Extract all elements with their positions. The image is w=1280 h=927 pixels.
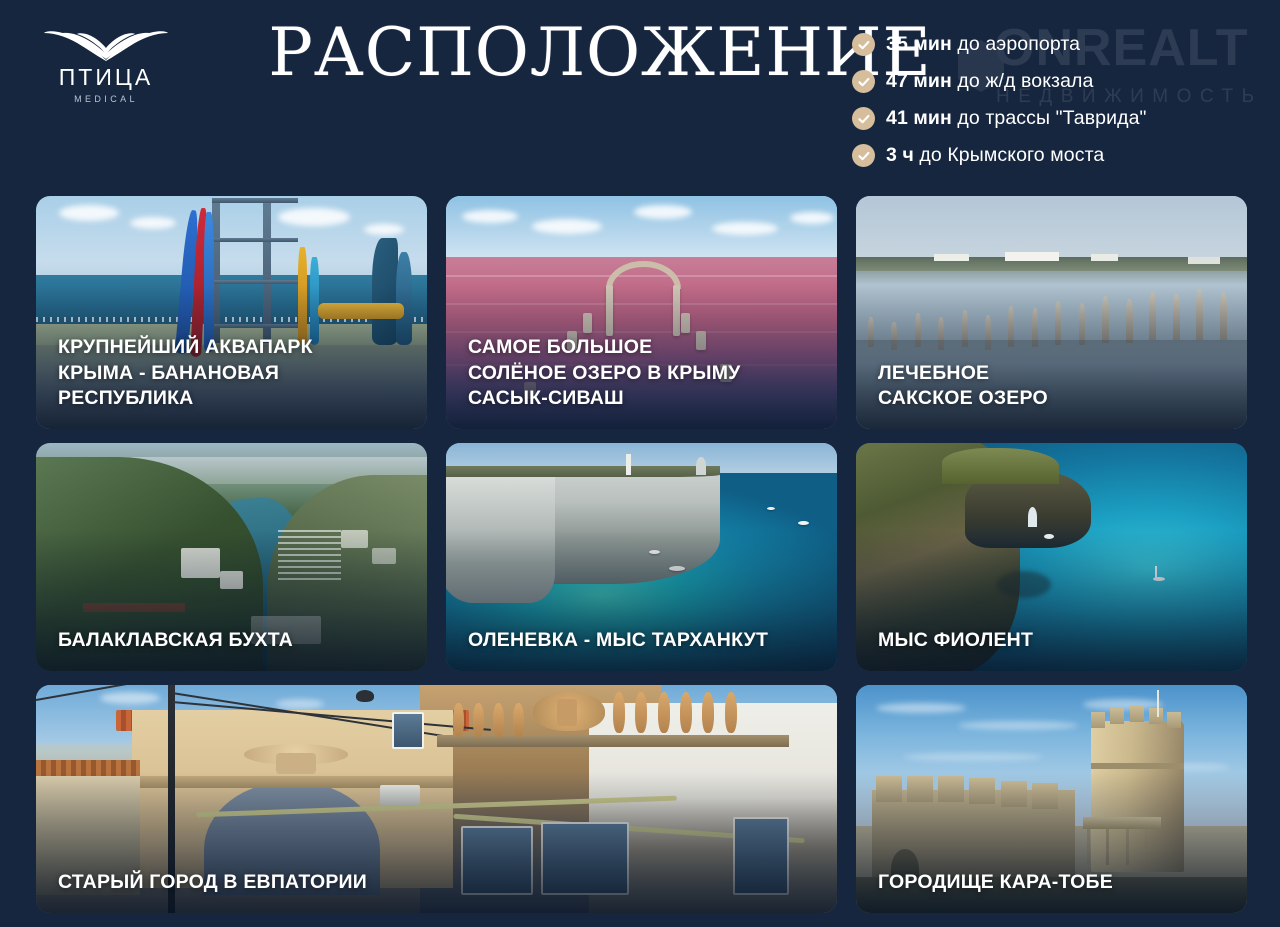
check-circle-icon (852, 33, 875, 56)
location-card-aquapark[interactable]: КРУПНЕЙШИЙ АКВАПАРК КРЫМА - БАНАНОВАЯ РЕ… (36, 196, 427, 429)
feature-value: 41 мин (886, 107, 952, 129)
check-circle-icon (852, 70, 875, 93)
location-card-sasyk[interactable]: САМОЕ БОЛЬШОЕ СОЛЁНОЕ ОЗЕРО В КРЫМУ САСЫ… (446, 196, 837, 429)
feature-desc: до трассы "Таврида" (952, 107, 1147, 129)
feature-label: 35 мин до аэропорта (886, 33, 1080, 56)
feature-desc: до ж/д вокзала (952, 70, 1094, 92)
location-card-evpatoria[interactable]: СТАРЫЙ ГОРОД В ЕВПАТОРИИ (36, 685, 837, 913)
card-caption: МЫС ФИОЛЕНТ (878, 628, 1233, 654)
grid-row: БАЛАКЛАВСКАЯ БУХТА ОЛЕНЕВКА - МЫС ТАРХАН… (36, 443, 1248, 671)
check-circle-icon (852, 107, 875, 130)
card-caption: БАЛАКЛАВСКАЯ БУХТА (58, 628, 413, 654)
location-card-saki[interactable]: ЛЕЧЕБНОЕ САКСКОЕ ОЗЕРО (856, 196, 1247, 429)
feature-item: 3 ч до Крымского моста (852, 139, 1272, 172)
card-caption: ЛЕЧЕБНОЕ САКСКОЕ ОЗЕРО (878, 361, 1233, 412)
card-caption: ОЛЕНЕВКА - МЫС ТАРХАНКУТ (468, 628, 823, 654)
brand-logo: ПТИЦА MEDICAL (36, 28, 176, 106)
feature-list: 35 мин до аэропорта 47 мин до ж/д вокзал… (852, 28, 1272, 176)
feature-desc: до Крымского моста (914, 144, 1104, 166)
feature-item: 47 мин до ж/д вокзала (852, 65, 1272, 98)
card-caption: СТАРЫЙ ГОРОД В ЕВПАТОРИИ (58, 870, 823, 896)
card-caption: САМОЕ БОЛЬШОЕ СОЛЁНОЕ ОЗЕРО В КРЫМУ САСЫ… (468, 335, 823, 412)
feature-label: 41 мин до трассы "Таврида" (886, 107, 1147, 130)
feature-item: 41 мин до трассы "Таврида" (852, 102, 1272, 135)
location-card-tarkhankut[interactable]: ОЛЕНЕВКА - МЫС ТАРХАНКУТ (446, 443, 837, 671)
feature-value: 47 мин (886, 70, 952, 92)
feature-label: 47 мин до ж/д вокзала (886, 70, 1093, 93)
location-card-balaklava[interactable]: БАЛАКЛАВСКАЯ БУХТА (36, 443, 427, 671)
feature-item: 35 мин до аэропорта (852, 28, 1272, 61)
feature-label: 3 ч до Крымского моста (886, 144, 1104, 167)
page-header: ПТИЦА MEDICAL РАСПОЛОЖЕНИЕ ONREALT НЕДВИ… (0, 0, 1280, 196)
card-caption: КРУПНЕЙШИЙ АКВАПАРК КРЫМА - БАНАНОВАЯ РЕ… (58, 335, 413, 412)
check-circle-icon (852, 144, 875, 167)
location-card-karatobe[interactable]: ГОРОДИЩЕ КАРА-ТОБЕ (856, 685, 1247, 913)
locations-grid: КРУПНЕЙШИЙ АКВАПАРК КРЫМА - БАНАНОВАЯ РЕ… (36, 196, 1248, 927)
feature-desc: до аэропорта (952, 33, 1080, 55)
feature-value: 35 мин (886, 33, 952, 55)
location-card-fiolent[interactable]: МЫС ФИОЛЕНТ (856, 443, 1247, 671)
grid-row: КРУПНЕЙШИЙ АКВАПАРК КРЫМА - БАНАНОВАЯ РЕ… (36, 196, 1248, 429)
grid-row: СТАРЫЙ ГОРОД В ЕВПАТОРИИ (36, 685, 1248, 913)
card-caption: ГОРОДИЩЕ КАРА-ТОБЕ (878, 870, 1233, 896)
brand-name: ПТИЦА (59, 66, 153, 89)
bird-wings-icon (44, 28, 168, 62)
feature-value: 3 ч (886, 144, 914, 166)
brand-tagline: MEDICAL (74, 94, 138, 104)
